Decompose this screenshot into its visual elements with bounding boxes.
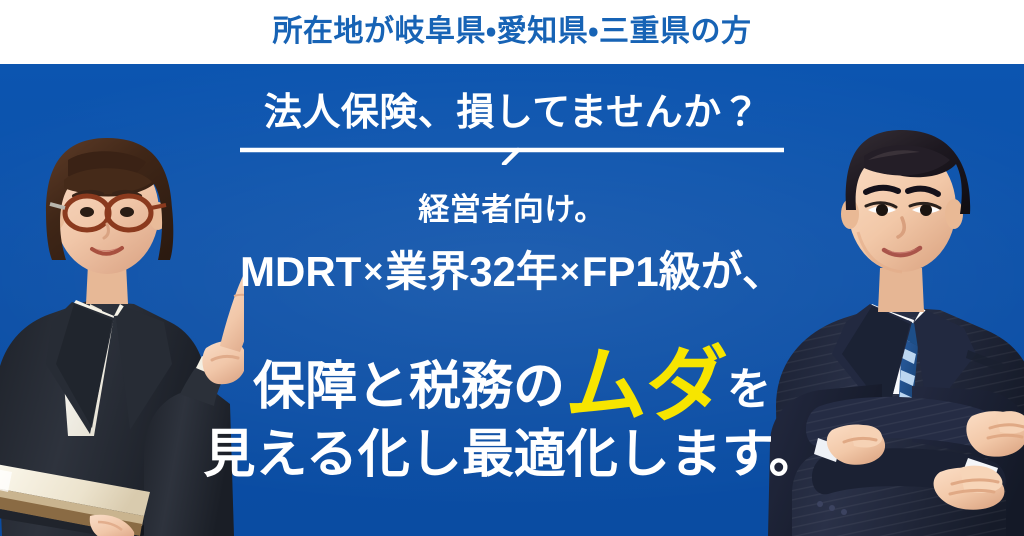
multiply-icon-1: × [361, 253, 385, 291]
claim-line-1: 保障と税務のムダを [0, 336, 1024, 418]
eyebrow-strip: 所在地が岐阜県・愛知県・三重県の方 [0, 0, 1024, 64]
claim-line-2: 見える化し最適化します。 [0, 429, 1024, 481]
hero-banner: 所在地が岐阜県・愛知県・三重県の方 [0, 0, 1024, 536]
credential-part-3: FP1級が、 [582, 248, 784, 295]
claim-1-tail: を [727, 365, 771, 414]
claim-1-lead: 保障と税務の [253, 358, 565, 416]
eyebrow-text: 所在地が岐阜県・愛知県・三重県の方 [273, 17, 752, 47]
credential-part-2: 業界32年 [385, 248, 558, 295]
headline-text: 法人保険、損してませんか？ [0, 92, 1024, 135]
headline-block: 法人保険、損してませんか？ [0, 92, 1024, 165]
multiply-icon-2: × [558, 253, 582, 291]
claim-1-emphasis: ムダ [565, 340, 727, 431]
sub-lead-text: 経営者向け。 [0, 194, 1024, 225]
hero-stage: 法人保険、損してませんか？ 経営者向け。 MDRT×業界32年×FP1級が、 保… [0, 64, 1024, 536]
underline-with-notch-icon [240, 145, 784, 165]
credential-part-1: MDRT [240, 248, 361, 295]
credential-line: MDRT×業界32年×FP1級が、 [0, 251, 1024, 293]
